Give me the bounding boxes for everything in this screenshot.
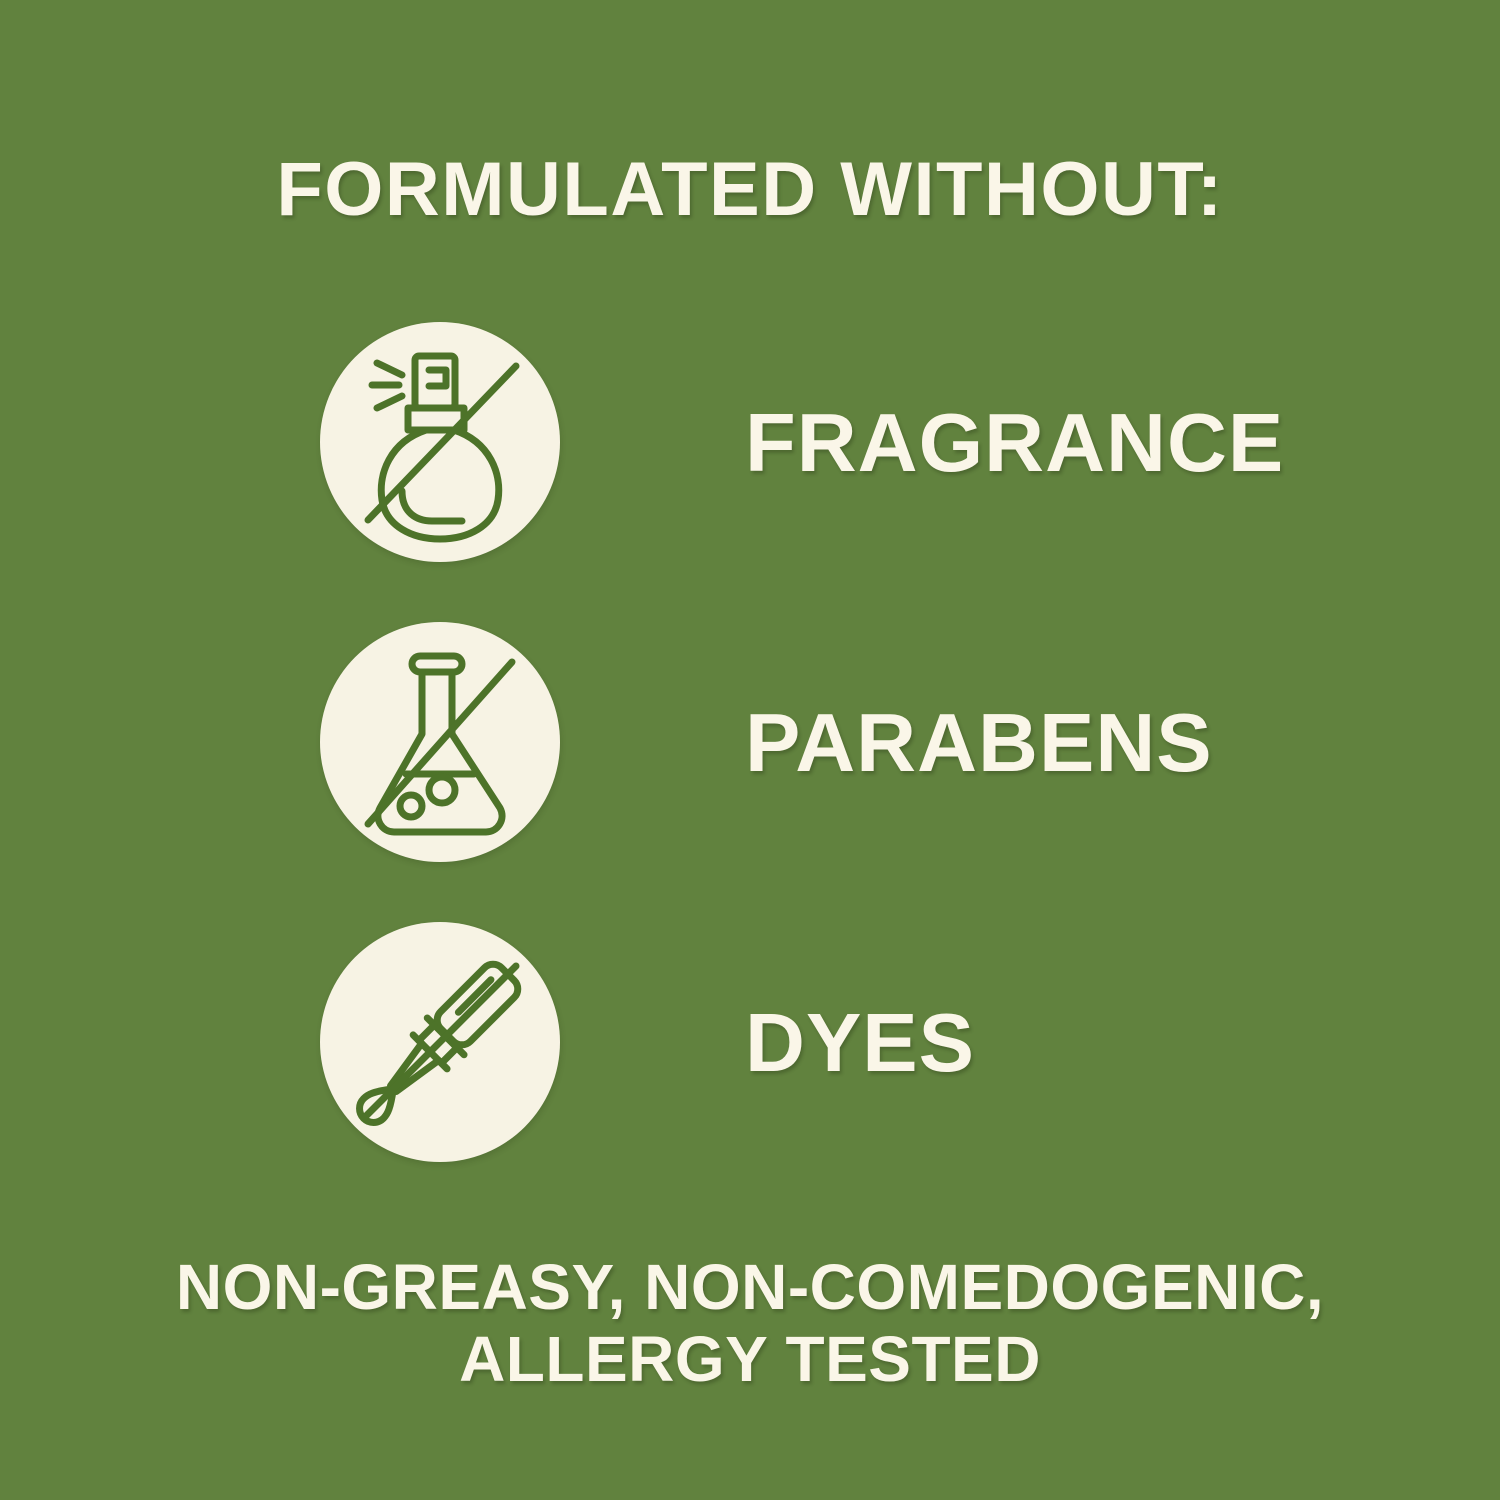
footer-line-2: ALLERGY TESTED: [0, 1324, 1500, 1396]
footer-claims: NON-GREASY, NON-COMEDOGENIC, ALLERGY TES…: [0, 1252, 1500, 1395]
list-item-label: FRAGRANCE: [745, 401, 1284, 484]
no-chemical-flask-icon: [320, 622, 560, 862]
list-item-label: PARABENS: [745, 701, 1213, 784]
list-item: FRAGRANCE: [320, 322, 1320, 562]
list-item-label: DYES: [745, 1001, 975, 1084]
no-dropper-icon: [320, 922, 560, 1162]
no-fragrance-bottle-icon: [320, 322, 560, 562]
formulated-without-panel: FORMULATED WITHOUT:: [0, 0, 1500, 1500]
footer-line-1: NON-GREASY, NON-COMEDOGENIC,: [0, 1252, 1500, 1324]
no-dyes-row: DYES: [320, 922, 1320, 1162]
list-item: PARABENS: [320, 622, 1320, 862]
